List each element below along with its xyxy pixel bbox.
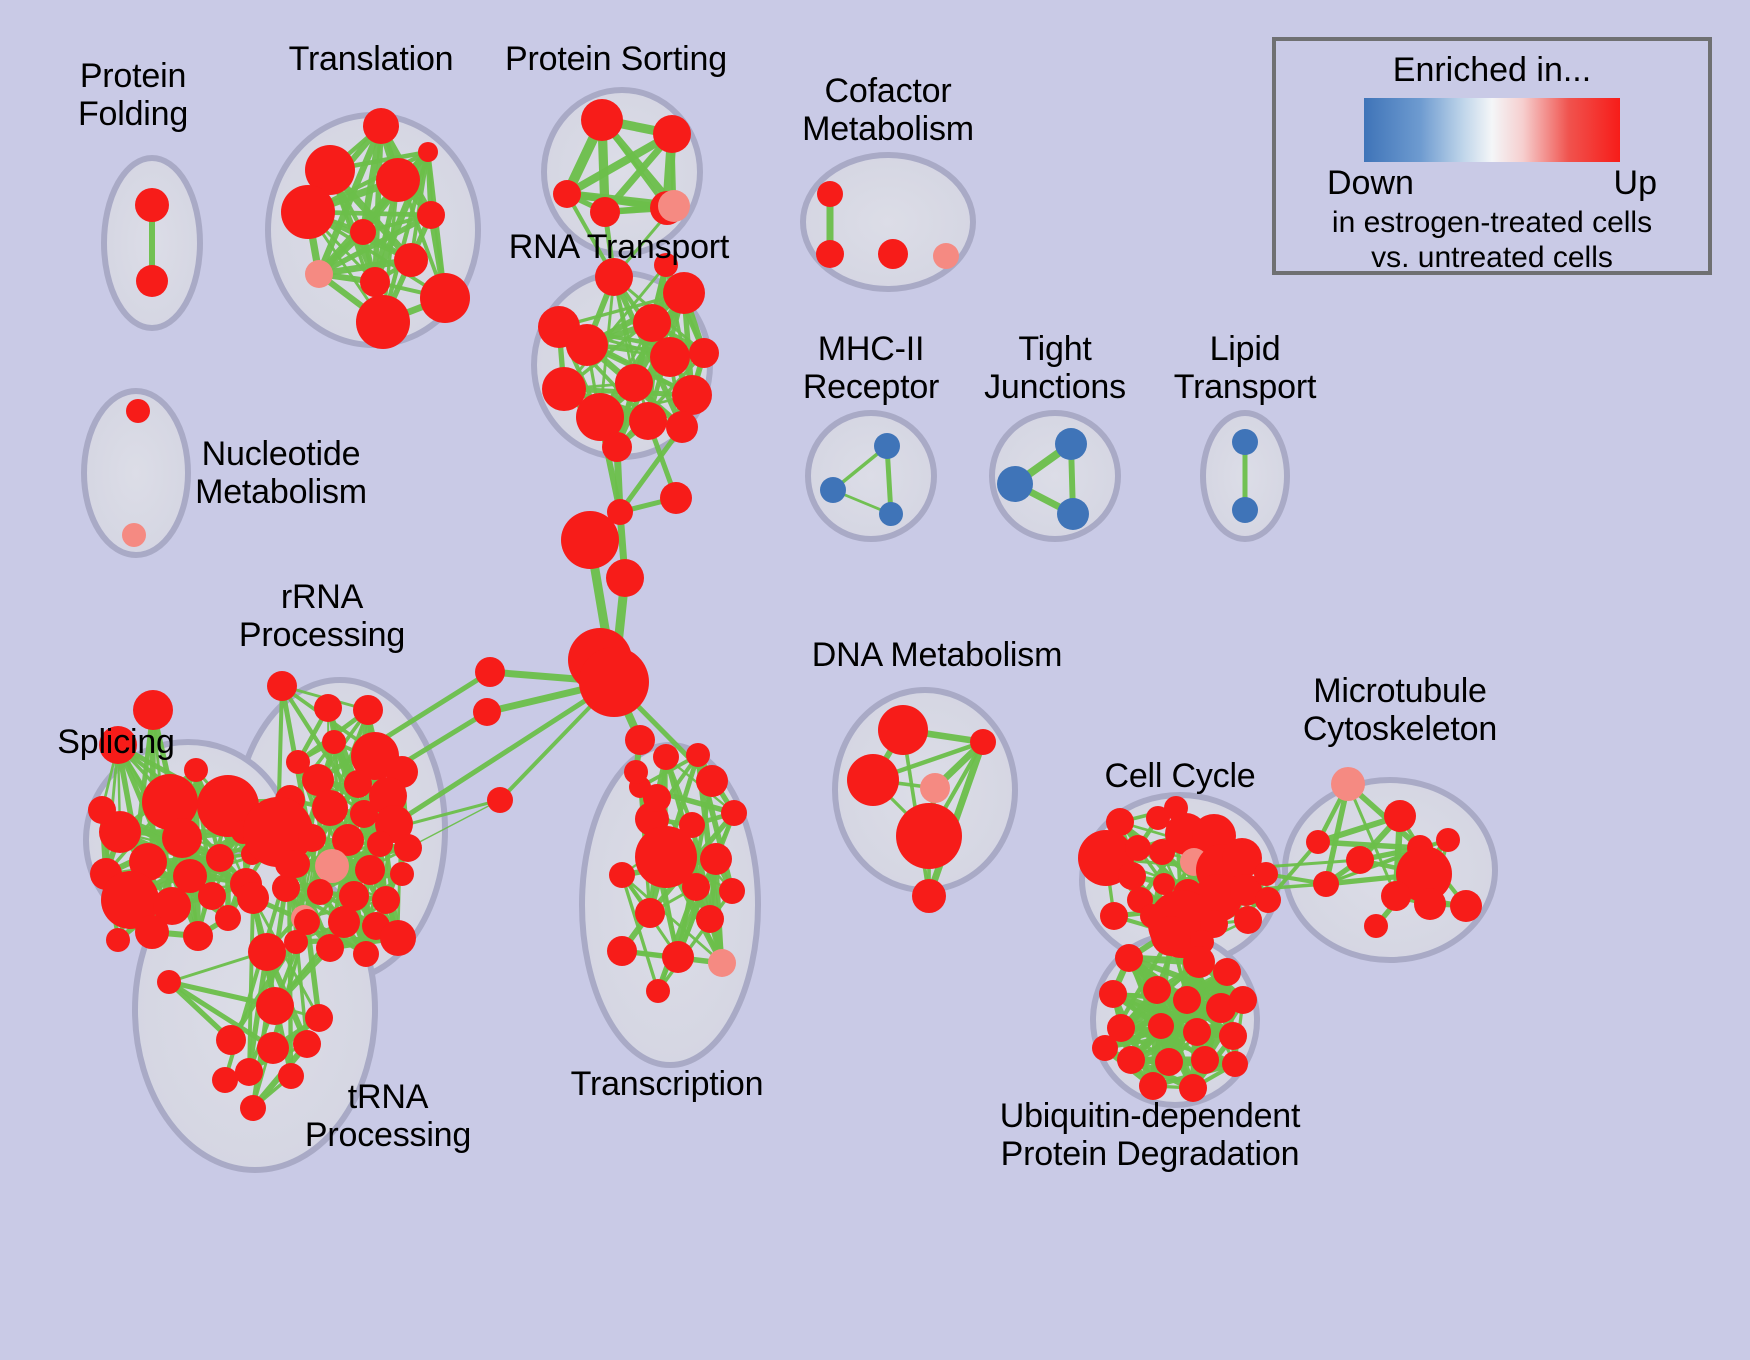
- cluster-label-splicing: Splicing: [57, 723, 174, 761]
- cluster-label-protein-folding: Protein Folding: [78, 57, 188, 133]
- cluster-label-dna-metabolism: DNA Metabolism: [812, 636, 1062, 674]
- legend-color-gradient: [1364, 98, 1620, 162]
- cluster-label-mhc-ii-receptor: MHC-II Receptor: [803, 330, 939, 406]
- cluster-label-lipid-transport: Lipid Transport: [1174, 330, 1316, 406]
- cluster-label-rna-transport: RNA Transport: [509, 228, 729, 266]
- legend-subtitle-line2: vs. untreated cells: [1276, 241, 1708, 276]
- legend-subtitle-line1: in estrogen-treated cells: [1276, 206, 1708, 241]
- legend-down-label: Down: [1327, 164, 1414, 203]
- cluster-label-cell-cycle: Cell Cycle: [1104, 757, 1255, 795]
- cluster-label-translation: Translation: [289, 40, 454, 78]
- cluster-label-cofactor-metabolism: Cofactor Metabolism: [802, 72, 974, 148]
- legend-panel: Enriched in... Down Up in estrogen-treat…: [1272, 37, 1712, 275]
- network-figure: Protein Folding Translation Protein Sort…: [0, 0, 1750, 1360]
- cluster-label-rrna-processing: rRNA Processing: [239, 578, 405, 654]
- cluster-label-protein-sorting: Protein Sorting: [505, 40, 727, 78]
- cluster-label-trna-processing: tRNA Processing: [305, 1078, 471, 1154]
- legend-up-label: Up: [1614, 164, 1657, 203]
- cluster-label-microtubule-cytoskeleton: Microtubule Cytoskeleton: [1303, 672, 1497, 748]
- cluster-label-ubiquitin-protein-degradation: Ubiquitin-dependent Protein Degradation: [1000, 1097, 1301, 1173]
- cluster-label-transcription: Transcription: [571, 1065, 764, 1103]
- legend-title: Enriched in...: [1276, 51, 1708, 90]
- cluster-label-nucleotide-metabolism: Nucleotide Metabolism: [195, 435, 367, 511]
- cluster-label-tight-junctions: Tight Junctions: [984, 330, 1126, 406]
